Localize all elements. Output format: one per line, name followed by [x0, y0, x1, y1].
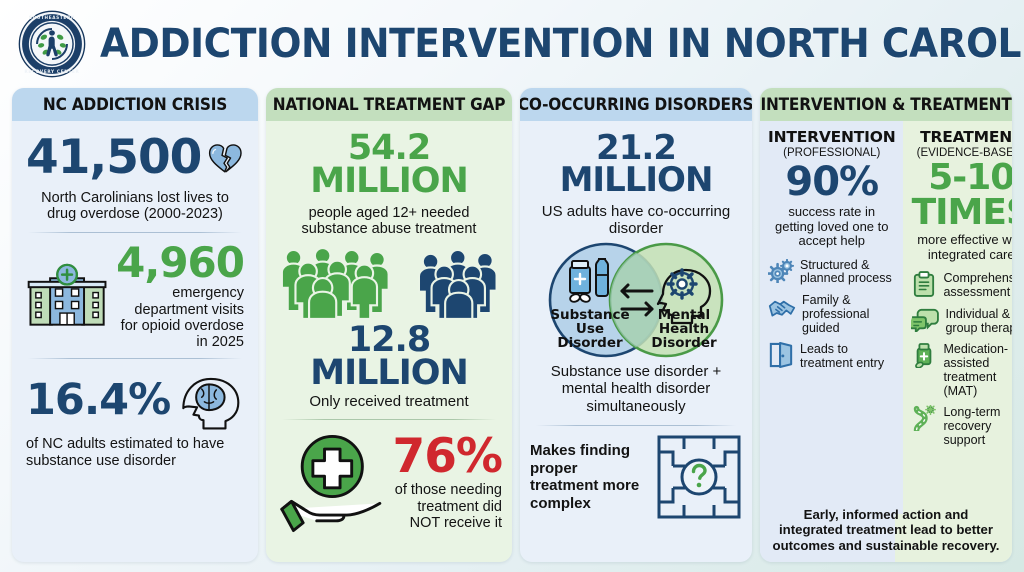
stat-block-co-occurring: 21.2 MILLION US adults have co-occurring…	[520, 121, 752, 237]
list-item-label: Family & professional guided	[802, 293, 895, 335]
speech-bubbles-icon	[911, 307, 939, 333]
column-body: 54.2 MILLION people aged 12+ needed subs…	[266, 121, 512, 562]
column-heading-text: INTERVENTION & TREATMENT	[760, 95, 1011, 114]
column-heading-national-treatment-gap: NATIONAL TREATMENT GAP	[266, 88, 512, 121]
stat-value-76pct: 76%	[393, 435, 503, 480]
treatment-bullets: Comprehensive assessment Individual & g	[911, 271, 1012, 447]
svg-text:Disorder: Disorder	[557, 335, 623, 351]
brain-head-icon	[176, 369, 244, 431]
svg-text:Disorder: Disorder	[651, 335, 717, 351]
treatment-panel: TREATMENT (EVIDENCE-BASED) 5-10 TIMES mo…	[903, 121, 1012, 514]
stat-value-542m: 54.2 MILLION	[278, 132, 500, 199]
southeastern-recovery-center-logo: SOUTHEASTERN RECOVERY CENTER	[18, 10, 86, 78]
column4-footer-background: Early, informed action and integrated tr…	[760, 514, 1012, 562]
co-occurring-definition-text: Substance use disorder + mental health d…	[528, 363, 744, 415]
stat-block-not-received: 76% of those needing treatment did NOT r…	[266, 420, 512, 538]
stat-value-4960: 4,960	[116, 243, 244, 283]
intervention-title: INTERVENTION	[768, 128, 895, 146]
list-item-label: Comprehensive assessment	[943, 271, 1012, 300]
column4-footer-text: Early, informed action and integrated tr…	[760, 502, 1012, 562]
intervention-bullets: Structured & planned process Family & pr…	[768, 258, 895, 371]
handshake-icon	[768, 293, 796, 319]
stat-caption-received-treatment: Only received treatment	[278, 394, 500, 411]
stat-caption-sud-prevalence: of NC adults estimated to have substance…	[26, 436, 244, 468]
list-item-label: Long-term recovery support	[943, 405, 1012, 447]
medicine-bottle-icon	[911, 342, 937, 368]
logo-bottom-text: RECOVERY CENTER	[25, 69, 80, 74]
hospital-icon	[26, 258, 108, 336]
list-item-label: Medication-assisted treatment (MAT)	[943, 342, 1012, 398]
treatment-title: TREATMENT	[911, 128, 1012, 146]
column-body: INTERVENTION (PROFESSIONAL) 90% success …	[760, 121, 1012, 562]
pill-bottle-icon	[569, 259, 608, 303]
stat-value-128m: 12.8 MILLION	[278, 324, 500, 391]
column-body: 41,500 North Carolinians lost lives to d…	[12, 121, 258, 562]
stat-value-212m: 21.2 MILLION	[530, 132, 742, 197]
list-item: Family & professional guided	[768, 293, 895, 335]
gears-icon	[768, 258, 794, 284]
list-item-label: Leads to treatment entry	[800, 342, 895, 371]
column-national-treatment-gap: NATIONAL TREATMENT GAP 54.2 MILLION peop…	[266, 88, 512, 562]
list-item: Comprehensive assessment	[911, 271, 1012, 300]
clipboard-icon	[911, 271, 937, 297]
column-heading-text: CO-OCCURRING DISORDERS	[520, 95, 752, 114]
intervention-panel: INTERVENTION (PROFESSIONAL) 90% success …	[760, 121, 903, 514]
stat-caption-overdose-deaths: North Carolinians lost lives to drug ove…	[26, 190, 244, 222]
stat-block-overdose-deaths: 41,500 North Carolinians lost lives to d…	[12, 121, 258, 232]
stat-block-ed-visits: 4,960 emergency department visits for op…	[12, 233, 258, 358]
column-heading-text: NC ADDICTION CRISIS	[43, 95, 227, 114]
hand-with-cross-icon	[276, 428, 391, 538]
list-item-label: Structured & planned process	[800, 258, 895, 287]
columns-container: NC ADDICTION CRISIS 41,500 North Carolin…	[0, 88, 1024, 562]
treatment-caption: more effective with integrated care	[911, 233, 1012, 262]
stat-value-164pct: 16.4%	[26, 380, 170, 421]
stat-caption-needed-treatment: people aged 12+ needed substance abuse t…	[278, 205, 500, 238]
stat-block-sud-prevalence: 16.4% of NC adults estimated to have sub…	[12, 359, 258, 478]
maze-question-icon	[656, 434, 742, 520]
list-item-label: Individual & group therapy	[945, 307, 1012, 336]
column-heading-text: NATIONAL TREATMENT GAP	[273, 95, 506, 114]
treatment-stat-times: TIMES	[911, 196, 1012, 229]
list-item: Individual & group therapy	[911, 307, 1012, 336]
winding-road-icon	[911, 405, 937, 431]
stat-caption-co-occurring: US adults have co-occurring disorder	[530, 203, 742, 238]
venn-diagram-icon: Substance Use Disorder Mental Health Dis…	[520, 241, 752, 359]
column-heading-nc-addiction-crisis: NC ADDICTION CRISIS	[12, 88, 258, 121]
stat-caption-ed-visits: emergency department visits for opioid o…	[116, 285, 244, 350]
page-title: Addiction Intervention in North Carolina	[100, 21, 1024, 67]
column-co-occurring-disorders: CO-OCCURRING DISORDERS 21.2 MILLION US a…	[520, 88, 752, 562]
co-occurring-definition: Substance use disorder + mental health d…	[520, 359, 752, 415]
column-body: 21.2 MILLION US adults have co-occurring…	[520, 121, 752, 562]
column-heading-intervention-and-treatment: INTERVENTION & TREATMENT	[760, 88, 1012, 121]
column-intervention-and-treatment: INTERVENTION & TREATMENT INTERVENTION (P…	[760, 88, 1012, 562]
list-item: Medication-assisted treatment (MAT)	[911, 342, 1012, 398]
column-heading-co-occurring-disorders: CO-OCCURRING DISORDERS	[520, 88, 752, 121]
page-header: SOUTHEASTERN RECOVERY CENTER Addiction I…	[0, 0, 1024, 88]
open-door-icon	[768, 342, 794, 368]
intervention-caption: success rate in getting loved one to acc…	[768, 205, 895, 249]
people-group-icon	[278, 244, 500, 320]
complexity-text: Makes finding proper treatment more comp…	[530, 442, 650, 513]
list-item: Leads to treatment entry	[768, 342, 895, 371]
intervention-stat-90pct: 90%	[768, 163, 895, 201]
list-item: Structured & planned process	[768, 258, 895, 287]
complexity-block: Makes finding proper treatment more comp…	[520, 426, 752, 520]
stat-block-received-treatment: 12.8 MILLION Only received treatment	[266, 320, 512, 411]
logo-top-text: SOUTHEASTERN	[29, 15, 75, 20]
stat-caption-not-received: of those needing treatment did NOT recei…	[393, 482, 503, 531]
intervention-subtitle: (PROFESSIONAL)	[768, 147, 895, 159]
intervention-treatment-split: INTERVENTION (PROFESSIONAL) 90% success …	[760, 121, 1012, 514]
stat-value-41500: 41,500	[26, 136, 201, 181]
column-nc-addiction-crisis: NC ADDICTION CRISIS 41,500 North Carolin…	[12, 88, 258, 562]
list-item: Long-term recovery support	[911, 405, 1012, 447]
broken-heart-icon	[207, 133, 244, 183]
treatment-stat-5-10: 5-10	[911, 161, 1012, 194]
stat-block-needed-treatment: 54.2 MILLION people aged 12+ needed subs…	[266, 121, 512, 320]
